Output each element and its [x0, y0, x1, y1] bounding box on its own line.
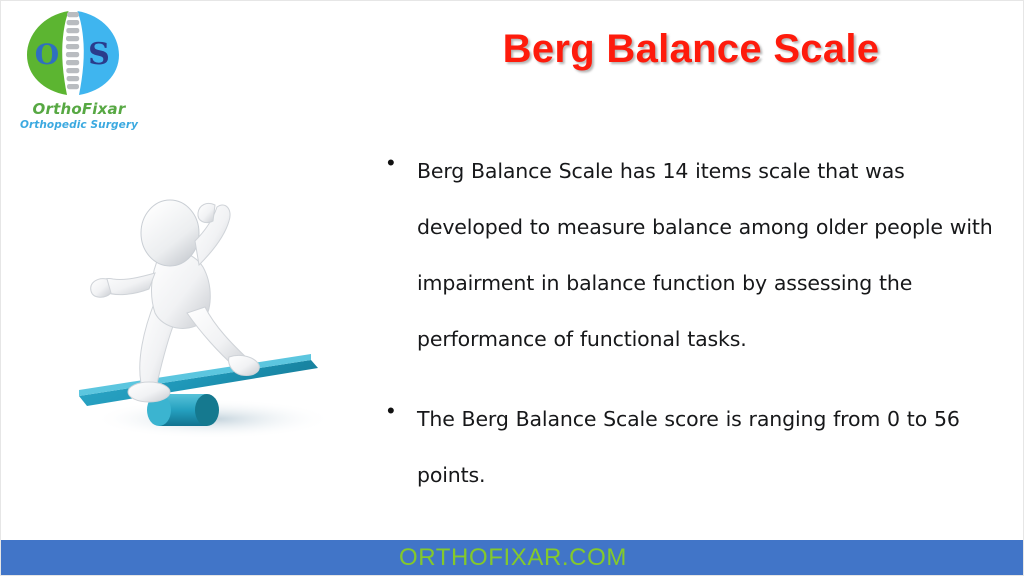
- balance-figure-illustration: [63, 161, 373, 461]
- bullet-marker-icon: •: [381, 391, 417, 431]
- logo-mark-icon: O S: [17, 5, 129, 101]
- slide-canvas: O S OrthoFixar Orthopedic Surgery Berg B…: [0, 0, 1024, 576]
- bullet-text-2: The Berg Balance Scale score is ranging …: [417, 391, 1009, 503]
- logo-wordmark: OrthoFixar Orthopedic Surgery: [9, 101, 149, 131]
- svg-text:S: S: [88, 37, 110, 72]
- footer-website-text: ORTHOFIXAR.COM: [399, 544, 627, 572]
- footer-bar: ORTHOFIXAR.COM: [1, 540, 1024, 575]
- slide-title: Berg Balance Scale: [381, 27, 1001, 72]
- list-item: • Berg Balance Scale has 14 items scale …: [381, 143, 1009, 367]
- logo-name-text: OrthoFixar: [9, 101, 149, 118]
- bullet-marker-icon: •: [381, 143, 417, 183]
- list-item: • The Berg Balance Scale score is rangin…: [381, 391, 1009, 503]
- bullet-text-1: Berg Balance Scale has 14 items scale th…: [417, 143, 1009, 367]
- orthofixar-logo: O S OrthoFixar Orthopedic Surgery: [9, 5, 149, 135]
- logo-subtitle-text: Orthopedic Surgery: [9, 120, 149, 132]
- svg-text:O: O: [35, 38, 59, 71]
- slide-body: • Berg Balance Scale has 14 items scale …: [381, 143, 1009, 527]
